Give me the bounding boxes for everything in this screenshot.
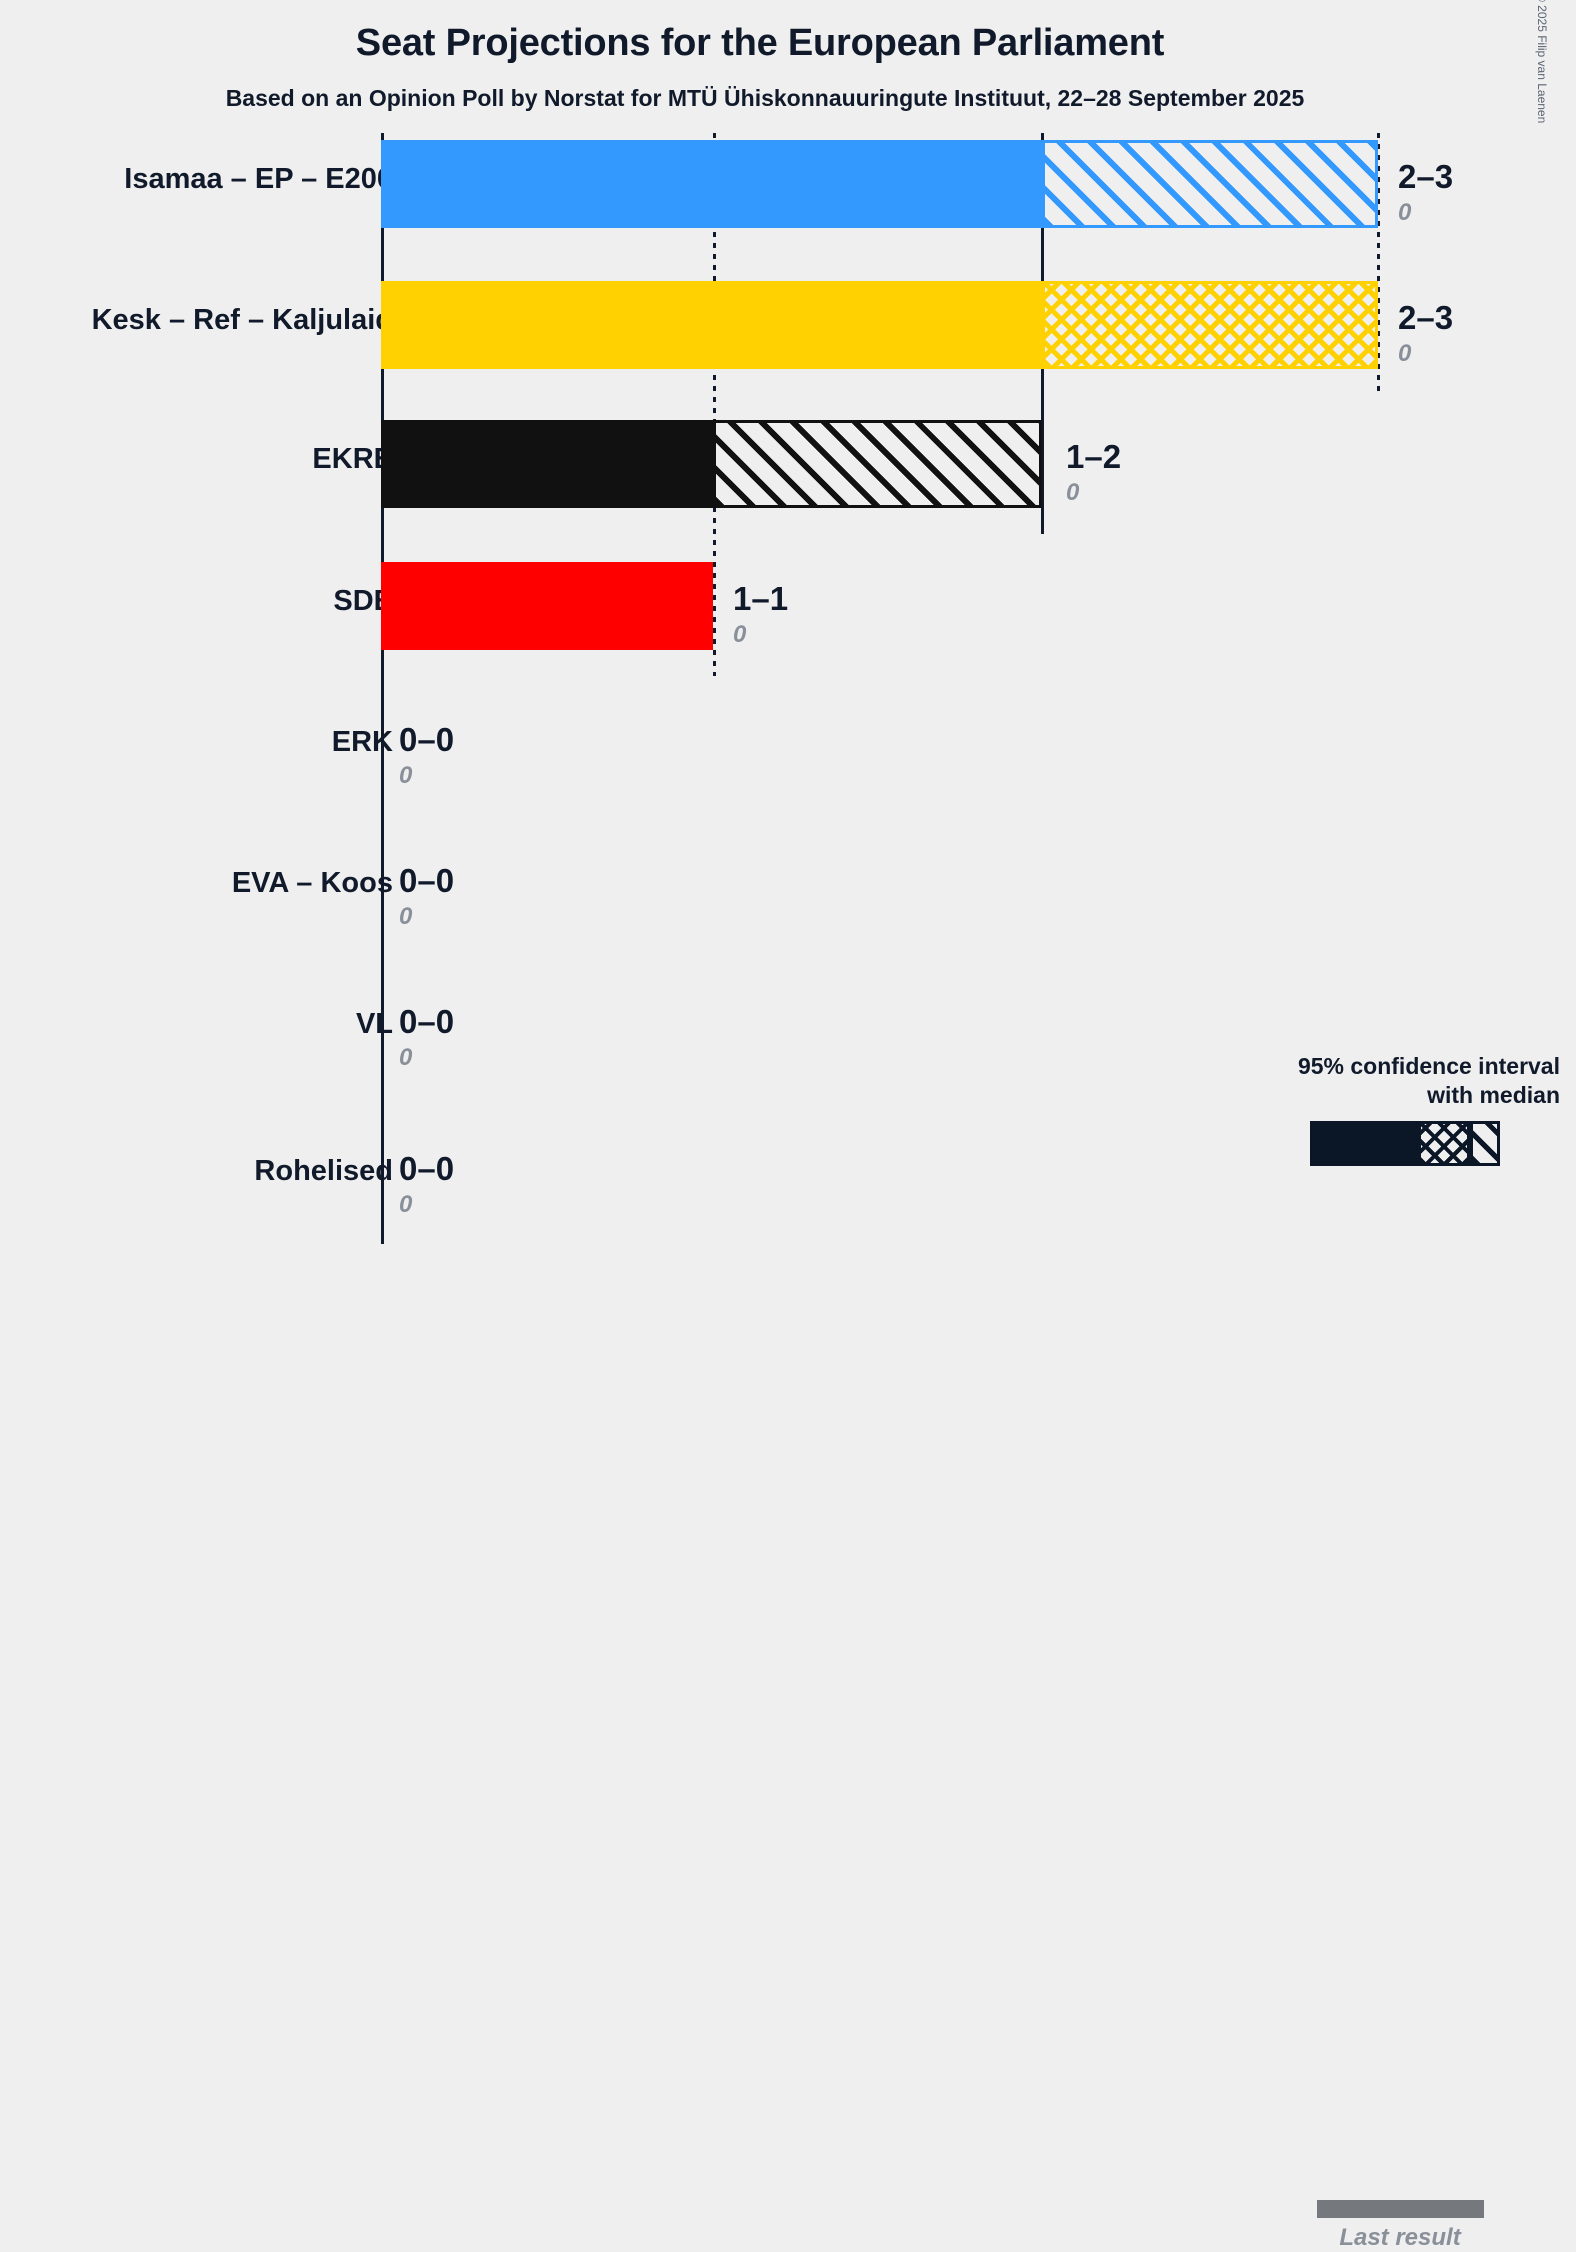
bar-segment-median-kesk bbox=[381, 281, 1042, 369]
chart-row-ekre: EKRE 1–2 0 bbox=[0, 420, 1576, 508]
bar-segment-median-isamaa bbox=[381, 140, 1042, 228]
value-range-ekre: 1–2 bbox=[1066, 438, 1121, 476]
row-label-isamaa: Isamaa – EP – E200 bbox=[124, 163, 393, 196]
chart-row-kesk: Kesk – Ref – Kaljulaid 2–3 0 bbox=[0, 281, 1576, 369]
bar-segment-interval-isamaa bbox=[1042, 140, 1378, 228]
bar-segment-interval-ekre bbox=[713, 420, 1042, 508]
legend-last-result-label: Last result bbox=[1240, 2224, 1560, 2252]
bar-kesk bbox=[381, 281, 1378, 369]
row-label-rohelised: Rohelised bbox=[254, 1155, 393, 1188]
value-range-sde: 1–1 bbox=[733, 580, 788, 618]
legend-segment-crosshatch bbox=[1418, 1121, 1470, 1166]
legend-last-result-bar bbox=[1317, 2200, 1484, 2218]
legend-sample-bar bbox=[1310, 1121, 1500, 1166]
value-range-erk: 0–0 bbox=[399, 721, 454, 759]
bar-isamaa bbox=[381, 140, 1378, 228]
legend-segment-median bbox=[1310, 1121, 1418, 1166]
legend-segment-diagonal bbox=[1470, 1121, 1500, 1166]
value-last-result-sde: 0 bbox=[733, 621, 746, 649]
value-last-result-vl: 0 bbox=[399, 1044, 412, 1072]
value-last-result-isamaa: 0 bbox=[1398, 199, 1411, 227]
legend-caption: 95% confidence interval with median bbox=[1240, 1052, 1560, 1110]
chart-row-erk: ERK 0–0 0 bbox=[0, 703, 1576, 791]
chart-row-sde: SDE 1–1 0 bbox=[0, 562, 1576, 650]
legend-caption-line-1: 95% confidence interval bbox=[1240, 1052, 1560, 1081]
row-label-vl: VL bbox=[356, 1008, 393, 1041]
chart-row-isamaa: Isamaa – EP – E200 2–3 0 bbox=[0, 140, 1576, 228]
value-range-isamaa: 2–3 bbox=[1398, 158, 1453, 196]
value-last-result-eva-koos: 0 bbox=[399, 903, 412, 931]
bar-segment-interval-kesk bbox=[1042, 281, 1378, 369]
bar-sde bbox=[381, 562, 713, 650]
bar-segment-median-sde bbox=[381, 562, 713, 650]
bar-segment-median-ekre bbox=[381, 420, 713, 508]
chart-legend: 95% confidence interval with median Last… bbox=[1240, 1052, 1560, 1166]
value-last-result-kesk: 0 bbox=[1398, 340, 1411, 368]
legend-caption-line-2: with median bbox=[1240, 1081, 1560, 1110]
value-last-result-ekre: 0 bbox=[1066, 479, 1079, 507]
value-range-kesk: 2–3 bbox=[1398, 299, 1453, 337]
row-label-kesk: Kesk – Ref – Kaljulaid bbox=[92, 304, 393, 337]
value-last-result-rohelised: 0 bbox=[399, 1191, 412, 1219]
value-range-vl: 0–0 bbox=[399, 1003, 454, 1041]
value-last-result-erk: 0 bbox=[399, 762, 412, 790]
value-range-rohelised: 0–0 bbox=[399, 1150, 454, 1188]
chart-row-eva-koos: EVA – Koos 0–0 0 bbox=[0, 844, 1576, 932]
row-label-eva-koos: EVA – Koos bbox=[232, 867, 393, 900]
seat-projection-chart: Isamaa – EP – E200 2–3 0 Kesk – Ref – Ka… bbox=[0, 0, 1576, 1254]
value-range-eva-koos: 0–0 bbox=[399, 862, 454, 900]
row-label-erk: ERK bbox=[332, 726, 393, 759]
bar-ekre bbox=[381, 420, 1042, 508]
